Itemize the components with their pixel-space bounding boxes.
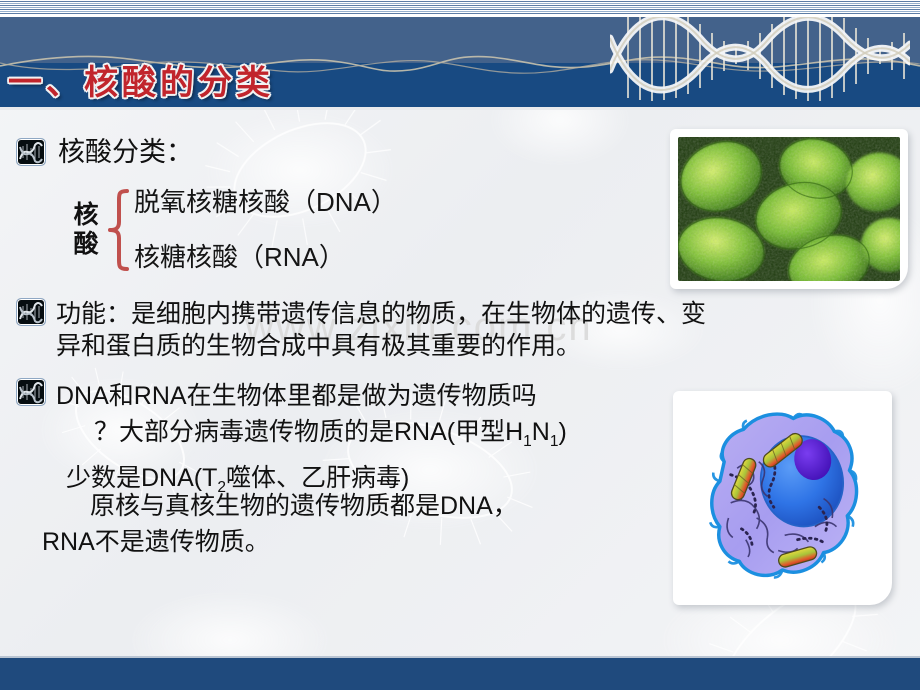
conclusion-paragraph: 原核与真核生物的遗传物质都是DNA， RNA不是遗传物质。 (42, 488, 682, 560)
green-virus-micrograph-image (678, 137, 900, 281)
virus-image-frame (670, 129, 908, 289)
question-line-2-mid: N (532, 418, 550, 446)
bullet-label-classification: 核酸分类： (58, 138, 193, 166)
bullet-item-question: DNA和RNA在生物体里都是做为遗传物质吗 ？大部分病毒遗传物质的是RNA(甲型… (16, 378, 696, 506)
vertical-label-char-2: 酸 (72, 230, 100, 259)
bullet-item-function: 功能：是细胞内携带遗传信息的物质，在生物体的遗传、变异和蛋白质的生物合成中具有极… (16, 298, 716, 362)
question-line-2-prefix: ？大部分病毒遗传物质的是RNA(甲型H (94, 418, 523, 446)
dna-helix-icon (16, 138, 46, 166)
classification-branches: 脱氧核糖核酸（DNA） 核糖核酸（RNA） (134, 188, 397, 272)
conclusion-line-2: RNA不是遗传物质。 (42, 524, 682, 560)
classification-group: 核 酸 脱氧核糖核酸（DNA） 核糖核酸（RNA） (72, 188, 397, 272)
conclusion-line-1: 原核与真核生物的遗传物质都是DNA， (42, 488, 682, 524)
slide-footer (0, 658, 920, 690)
top-stripe-separator (0, 14, 920, 17)
bullet-text-function: 功能：是细胞内携带遗传信息的物质，在生物体的遗传、变异和蛋白质的生物合成中具有极… (56, 298, 716, 362)
eukaryotic-cell-diagram-image (681, 399, 884, 597)
branch-dna: 脱氧核糖核酸（DNA） (134, 188, 397, 217)
bullet-text-question: DNA和RNA在生物体里都是做为遗传物质吗 ？大部分病毒遗传物质的是RNA(甲型… (56, 378, 567, 506)
cell-image-frame (673, 391, 892, 605)
page-title: 一、核酸的分类 (8, 55, 274, 104)
dna-helix-icon (16, 378, 46, 406)
branch-rna: 核糖核酸（RNA） (134, 243, 397, 272)
dna-helix-icon (16, 298, 46, 326)
question-line-1: DNA和RNA在生物体里都是做为遗传物质吗 (56, 378, 567, 414)
subscript-h1: 1 (523, 433, 532, 450)
question-line-2-suffix: ) (558, 418, 566, 446)
classification-vertical-label: 核 酸 (72, 201, 100, 259)
curly-brace-icon (106, 188, 132, 272)
slide-canvas: 一、核酸的分类 www.zixin.com.cn 核酸分类 (0, 0, 920, 690)
bullet-item-classification: 核酸分类： (16, 138, 193, 166)
question-line-2: ？大部分病毒遗传物质的是RNA(甲型H1N1) (94, 414, 567, 460)
vertical-label-char-1: 核 (72, 201, 100, 230)
